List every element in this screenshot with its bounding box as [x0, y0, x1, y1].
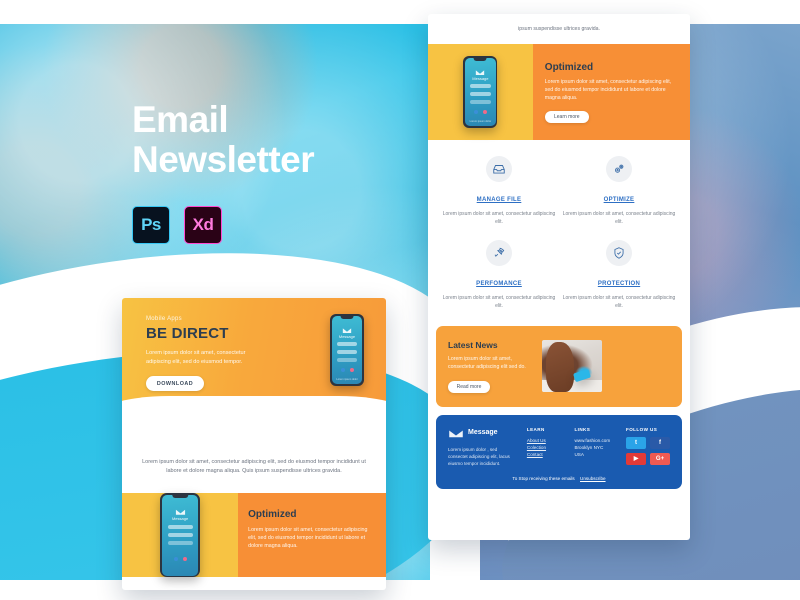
- envelope-icon-footer: [448, 427, 464, 439]
- footer-link-city: Brooklyn NYC: [574, 444, 612, 451]
- optimized-text-panel-right: Optimized Lorem ipsum dolor sit amet, co…: [533, 44, 690, 140]
- feature-name[interactable]: PERFOMANCE: [476, 281, 522, 287]
- phone-logo-2: Message: [162, 508, 199, 521]
- feature-name[interactable]: PROTECTION: [598, 281, 640, 287]
- optimized-phone-panel: Message: [122, 493, 238, 577]
- latest-news-section: Latest News Lorem ipsum dolor sit amet, …: [436, 326, 682, 406]
- right-card-top-text: ipsum suspendisse ultrices gravida.: [428, 14, 690, 44]
- optimized-section-left: Message Optimized Lorem ipsum dolor sit …: [122, 493, 386, 577]
- phone-mockup-hero: Message Lorem ipsum dolor: [330, 314, 364, 386]
- hero-body: Lorem ipsum dolor sit amet, consectetur …: [146, 349, 258, 366]
- footer-links-column: LINKS www.fashion.com Brooklyn NYC USA: [574, 427, 612, 467]
- footer-link-country: USA: [574, 451, 612, 458]
- read-more-button[interactable]: Read more: [448, 381, 490, 393]
- unsubscribe-row: To Stop receiving these emails Unsubscri…: [448, 476, 670, 481]
- feature-body: Lorem ipsum dolor sit amet, consectetur …: [562, 295, 676, 310]
- download-button[interactable]: DOWNLOAD: [146, 376, 204, 391]
- footer-link-website: www.fashion.com: [574, 437, 612, 444]
- optimized-body-right: Lorem ipsum dolor sit amet, consectetur …: [545, 79, 676, 102]
- rocket-icon: [486, 240, 512, 266]
- feature-optimize[interactable]: OPTIMIZE Lorem ipsum dolor sit amet, con…: [562, 156, 676, 226]
- phone-notch: [341, 316, 354, 319]
- newsletter-card-right: ipsum suspendisse ultrices gravida. Mess…: [428, 14, 690, 540]
- phone-dots: [332, 368, 363, 372]
- be-direct-hero: Mobile Apps BE DIRECT Lorem ipsum dolor …: [122, 298, 386, 422]
- footer-link-about-us[interactable]: About Us: [527, 437, 565, 444]
- feature-manage-file[interactable]: MANAGE FILE Lorem ipsum dolor sit amet, …: [442, 156, 556, 226]
- facebook-button[interactable]: f: [650, 437, 670, 449]
- email-footer: Message Lorem ipsum dolor , sed consecte…: [436, 415, 682, 489]
- title-line-1: Email: [132, 99, 228, 140]
- feature-name[interactable]: MANAGE FILE: [477, 197, 522, 203]
- footer-brand-body: Lorem ipsum dolor , sed consectet adipis…: [448, 446, 517, 467]
- title-line-2: Newsletter: [132, 139, 314, 180]
- optimized-body: Lorem ipsum dolor sit amet, consectetur …: [248, 526, 372, 550]
- footer-link-colection[interactable]: Colection: [527, 444, 565, 451]
- phone-footer-note-3: Lorem ipsum dolor: [465, 120, 496, 123]
- feature-protection[interactable]: PROTECTION Lorem ipsum dolor sit amet, c…: [562, 240, 676, 310]
- youtube-button[interactable]: ▶: [626, 453, 646, 465]
- twitter-button[interactable]: t: [626, 437, 646, 449]
- footer-learn-title: LEARN: [527, 427, 565, 432]
- gears-icon: [606, 156, 632, 182]
- news-heading: Latest News: [448, 340, 532, 350]
- unsubscribe-text: To Stop receiving these emails: [512, 476, 574, 481]
- optimized-heading: Optimized: [248, 509, 372, 520]
- photoshop-badge: Ps: [132, 206, 170, 244]
- footer-brand: Message Lorem ipsum dolor , sed consecte…: [448, 427, 517, 467]
- phone-footer-note: Lorem ipsum dolor: [332, 378, 363, 381]
- learn-more-button[interactable]: Learn more: [545, 111, 589, 123]
- footer-learn-column: LEARN About Us Colection Contact: [527, 427, 565, 467]
- unsubscribe-link[interactable]: Unsubscribe: [580, 476, 606, 481]
- phone-logo-label-3: Message: [465, 76, 496, 81]
- optimized-heading-right: Optimized: [545, 62, 676, 73]
- news-text: Latest News Lorem ipsum dolor sit amet, …: [448, 340, 532, 392]
- feature-body: Lorem ipsum dolor sit amet, consectetur …: [442, 211, 556, 226]
- phone-logo-3: Message: [465, 69, 496, 81]
- page-title: Email Newsletter: [132, 100, 314, 180]
- feature-body: Lorem ipsum dolor sit amet, consectetur …: [562, 211, 676, 226]
- news-body: Lorem ipsum dolor sit amet, consectetur …: [448, 356, 532, 371]
- googleplus-button[interactable]: G+: [650, 453, 670, 465]
- xd-badge: Xd: [184, 206, 222, 244]
- feature-name[interactable]: OPTIMIZE: [604, 197, 635, 203]
- top-paragraph: ipsum suspendisse ultrices gravida.: [446, 26, 672, 32]
- footer-links-title: LINKS: [574, 427, 612, 432]
- feature-body: Lorem ipsum dolor sit amet, consectetur …: [442, 295, 556, 310]
- message-body: Lorem ipsum dolor sit amet, consectetur …: [142, 458, 366, 475]
- optimized-phone-panel-right: Message Lorem ipsum dolor: [428, 44, 533, 140]
- inbox-icon: [486, 156, 512, 182]
- phone-logo-label: Message: [332, 334, 363, 339]
- hero-block: Email Newsletter Ps Xd: [132, 100, 314, 244]
- footer-social-title: FOLLOW US: [626, 427, 670, 432]
- feature-grid: MANAGE FILE Lorem ipsum dolor sit amet, …: [428, 140, 690, 324]
- phone-logo: Message: [332, 327, 363, 339]
- bottom-margin: [0, 580, 800, 600]
- footer-columns: Message Lorem ipsum dolor , sed consecte…: [448, 427, 670, 467]
- newsletter-card-left: Mobile Apps BE DIRECT Lorem ipsum dolor …: [122, 298, 386, 590]
- footer-brand-name: Message: [468, 429, 498, 436]
- phone-logo-label-2: Message: [162, 516, 199, 521]
- social-buttons: t f ▶ G+: [626, 437, 670, 465]
- optimized-section-right: Message Lorem ipsum dolor Optimized Lore…: [428, 44, 690, 140]
- footer-social-column: FOLLOW US t f ▶ G+: [626, 427, 670, 467]
- software-badges: Ps Xd: [132, 206, 314, 244]
- feature-perfomance[interactable]: PERFOMANCE Lorem ipsum dolor sit amet, c…: [442, 240, 556, 310]
- shield-check-icon: [606, 240, 632, 266]
- hero-wave-divider: [122, 396, 386, 452]
- optimized-text-panel: Optimized Lorem ipsum dolor sit amet, co…: [238, 493, 386, 577]
- news-photo: [542, 340, 602, 392]
- footer-link-contact[interactable]: Contact: [527, 451, 565, 458]
- phone-form-bars: [337, 342, 358, 366]
